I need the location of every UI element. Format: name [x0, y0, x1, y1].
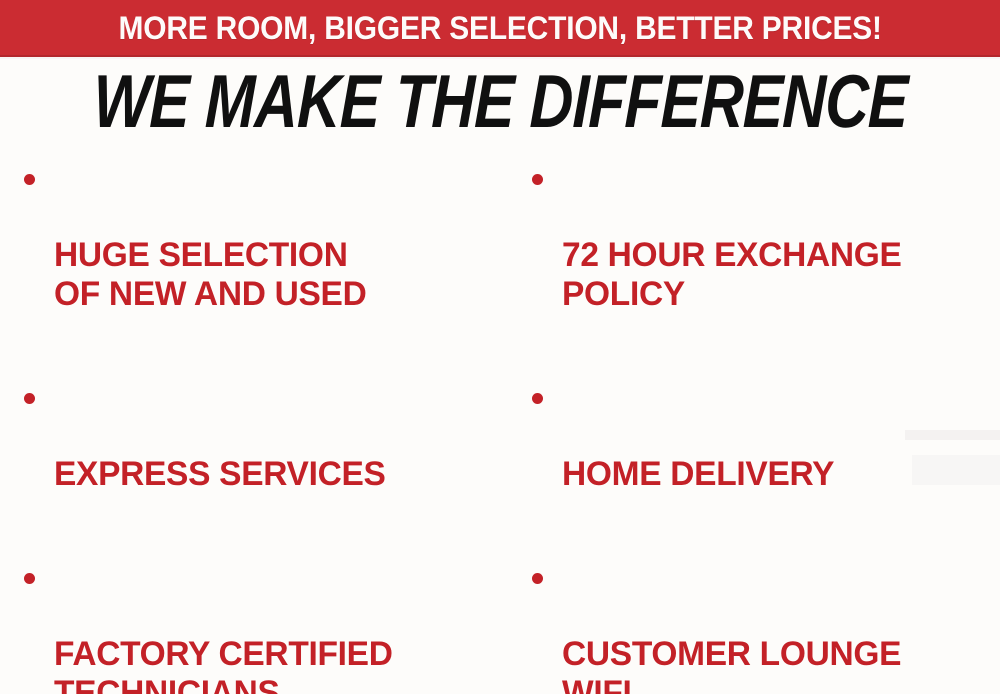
list-item: CUSTOMER LOUNGE WIFI — [526, 557, 1000, 694]
features-column-right: 72 HOUR EXCHANGE POLICY HOME DELIVERY CU… — [506, 158, 1000, 694]
feature-list-right: 72 HOUR EXCHANGE POLICY HOME DELIVERY CU… — [526, 158, 1000, 694]
list-item-label: HOME DELIVERY — [562, 455, 993, 494]
bullet-dot-icon — [24, 174, 35, 185]
bullet-dot-icon — [532, 573, 543, 584]
list-item-label: CUSTOMER LOUNGE WIFI — [562, 635, 993, 694]
list-item: HOME DELIVERY — [526, 377, 1000, 533]
bullet-dot-icon — [532, 174, 543, 185]
list-item-label: HUGE SELECTION OF NEW AND USED — [54, 236, 499, 314]
features-column-left: HUGE SELECTION OF NEW AND USED EXPRESS S… — [0, 158, 506, 694]
list-item: HUGE SELECTION OF NEW AND USED — [18, 158, 506, 353]
list-item: EXPRESS SERVICES — [18, 377, 506, 533]
bullet-dot-icon — [24, 393, 35, 404]
top-banner: MORE ROOM, BIGGER SELECTION, BETTER PRIC… — [0, 0, 1000, 57]
list-item-label: FACTORY CERTIFIED TECHNICIANS — [54, 635, 499, 694]
features-columns: HUGE SELECTION OF NEW AND USED EXPRESS S… — [0, 158, 1000, 694]
bullet-dot-icon — [24, 573, 35, 584]
list-item-label: EXPRESS SERVICES — [54, 455, 499, 494]
list-item-label: 72 HOUR EXCHANGE POLICY — [562, 236, 993, 314]
headline-container: WE MAKE THE DIFFERENCE — [0, 60, 1000, 145]
bullet-dot-icon — [532, 393, 543, 404]
promo-poster: MORE ROOM, BIGGER SELECTION, BETTER PRIC… — [0, 0, 1000, 694]
page-title: WE MAKE THE DIFFERENCE — [93, 64, 909, 139]
feature-list-left: HUGE SELECTION OF NEW AND USED EXPRESS S… — [18, 158, 506, 694]
list-item: 72 HOUR EXCHANGE POLICY — [526, 158, 1000, 353]
list-item: FACTORY CERTIFIED TECHNICIANS — [18, 557, 506, 694]
banner-headline-text: MORE ROOM, BIGGER SELECTION, BETTER PRIC… — [118, 12, 881, 44]
